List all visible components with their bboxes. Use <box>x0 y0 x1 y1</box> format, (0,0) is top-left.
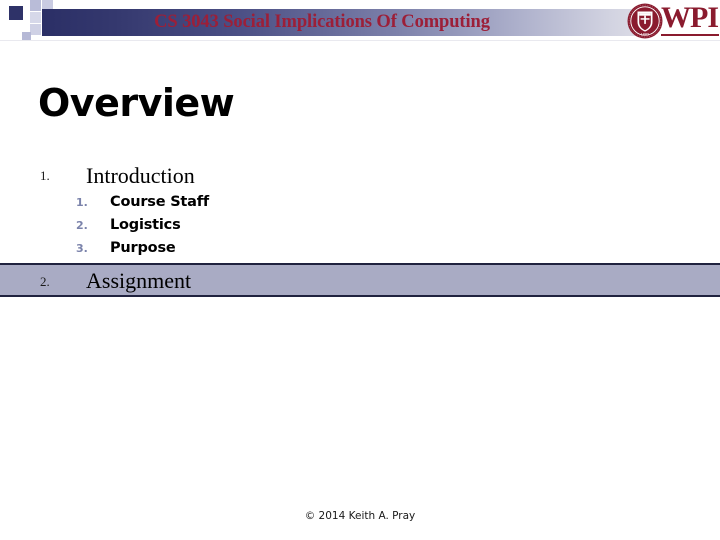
outline-item-number: 1. <box>40 168 62 184</box>
outline-item-number: 1. <box>76 196 96 209</box>
decorative-square <box>30 12 41 23</box>
decorative-square <box>30 0 41 11</box>
header-title-bar: CS 3043 Social Implications Of Computing <box>42 9 640 36</box>
wpi-seal-icon: 1865 <box>627 3 663 39</box>
outline-item-label: Purpose <box>110 237 176 259</box>
outline-item-number: 2. <box>40 274 62 290</box>
decorative-square <box>9 6 23 20</box>
outline-item-number: 2. <box>76 219 96 232</box>
outline-item-label: Assignment <box>86 267 191 295</box>
outline-item-number: 3. <box>76 242 96 255</box>
outline-item-label: Logistics <box>110 214 181 236</box>
decorative-square <box>30 24 41 35</box>
outline-item-level2: 3.Purpose <box>0 237 720 260</box>
outline-item-label: Introduction <box>86 162 195 190</box>
wpi-underline <box>661 34 719 36</box>
outline-item-level1: 1.Introduction <box>0 162 720 191</box>
page-title: Overview <box>38 80 234 126</box>
header-divider <box>0 40 720 41</box>
slide-header: CS 3043 Social Implications Of Computing <box>0 0 720 46</box>
outline-item-level2: 1.Course Staff <box>0 191 720 214</box>
outline-list: 1.Introduction1.Course Staff2.Logistics3… <box>0 162 720 297</box>
header-title: CS 3043 Social Implications Of Computing <box>42 9 602 36</box>
wpi-logo: 1865 WPI <box>627 1 719 43</box>
outline-item-highlighted: 2.Assignment <box>0 263 720 297</box>
outline-item-level2: 2.Logistics <box>0 214 720 237</box>
footer-copyright: © 2014 Keith A. Pray <box>0 510 720 522</box>
svg-text:1865: 1865 <box>641 33 649 37</box>
outline-item-label: Course Staff <box>110 191 209 213</box>
wpi-wordmark: WPI <box>661 2 719 34</box>
slide: CS 3043 Social Implications Of Computing <box>0 0 720 540</box>
